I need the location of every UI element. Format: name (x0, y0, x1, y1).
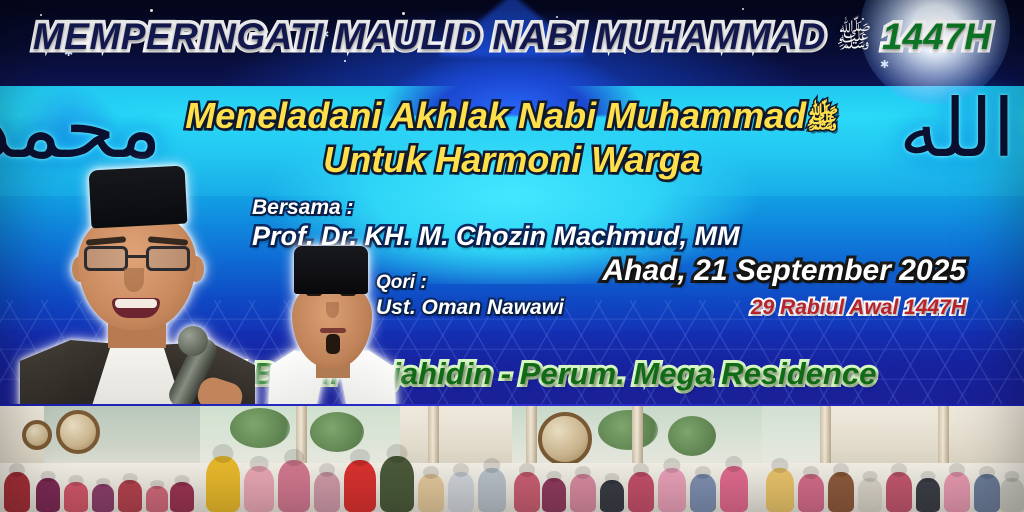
event-date-gregorian: Ahad, 21 September 2025 (602, 254, 966, 288)
sparkle-icon: ✱ (880, 60, 889, 71)
photo-strip (0, 406, 1024, 512)
maulid-event-banner: ✱ ✱ ✱ ✱ محمد الله MEMPERINGATI MAULID NA… (0, 0, 1024, 512)
speaker-with-label: Bersama : (252, 196, 354, 220)
photo-community-gathering-left (0, 406, 200, 512)
speaker-portrait (20, 168, 255, 410)
banner-header: MEMPERINGATI MAULID NABI MUHAMMAD ﷺ 1447… (0, 16, 1024, 58)
event-date-hijri: 29 Rabiul Awal 1447H (751, 296, 966, 320)
qori-mouth (320, 328, 346, 333)
qori-peci-cap (294, 246, 368, 294)
qori-nose (326, 302, 339, 318)
photo-mosque-hall-attendees (762, 406, 1024, 512)
qori-portrait (268, 246, 396, 410)
qori-goatee (326, 334, 340, 354)
salawat-glyph-icon: ﷺ (806, 104, 839, 135)
microphone-head-icon (178, 326, 208, 356)
speaker-nose (124, 268, 144, 292)
hijri-year: 1447H (882, 16, 991, 58)
qori-name: Ust. Oman Nawawi (376, 296, 564, 320)
speaker-peci-cap (89, 166, 188, 229)
photo-bedug-drum-courtyard (512, 406, 762, 512)
header-title: MEMPERINGATI MAULID NABI MUHAMMAD (33, 16, 826, 58)
salawat-glyph-icon: ﷺ (836, 24, 872, 51)
theme-line-1: Meneladani Akhlak Nabi Muhammadﷺ (0, 94, 1024, 138)
photo-children-seated-group (200, 406, 512, 512)
theme-line-1-text: Meneladani Akhlak Nabi Muhammad (185, 95, 806, 136)
speaker-mouth (112, 298, 160, 318)
